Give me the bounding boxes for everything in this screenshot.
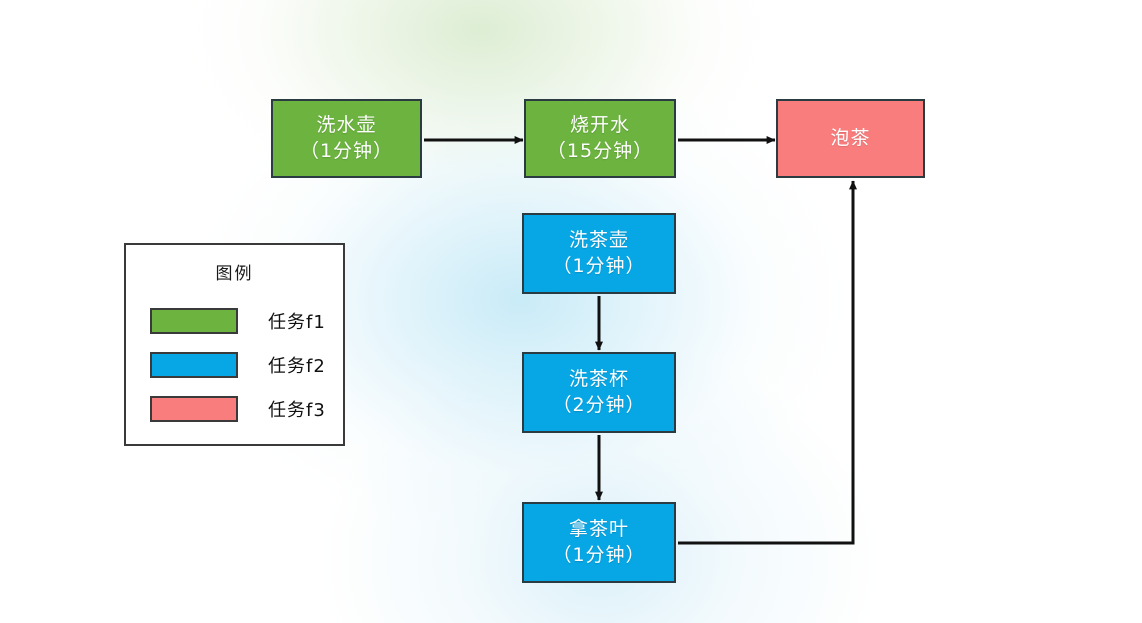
legend-item-task-f1[interactable]: 任务f1 [150,308,330,334]
legend-swatch-task-f1 [150,308,238,334]
flowchart-canvas: 洗水壶 （1分钟） 烧开水 （15分钟） 泡茶 洗茶壶 （1分钟） 洗茶杯 （2… [0,0,1142,623]
legend-label-task-f1: 任务f1 [268,308,326,334]
node-take-tealeaf[interactable]: 拿茶叶 （1分钟） [522,502,676,583]
legend-label-task-f3: 任务f3 [268,396,326,422]
node-title: 泡茶 [830,126,870,151]
node-title: 烧开水 [570,113,630,138]
legend-swatch-task-f2 [150,352,238,378]
legend-title: 图例 [126,259,343,284]
node-brew-tea[interactable]: 泡茶 [776,99,925,178]
node-title: 洗水壶 [316,113,376,138]
legend-label-task-f2: 任务f2 [268,352,326,378]
legend-item-task-f3[interactable]: 任务f3 [150,396,330,422]
node-title: 洗茶壶 [569,228,629,253]
node-duration: （15分钟） [547,139,653,164]
node-title: 洗茶杯 [569,367,629,392]
node-duration: （1分钟） [300,139,393,164]
node-wash-kettle[interactable]: 洗水壶 （1分钟） [271,99,422,178]
edge-take-tealeaf-to-brew-tea [678,181,853,543]
node-wash-teapot[interactable]: 洗茶壶 （1分钟） [522,213,676,294]
legend-swatch-task-f3 [150,396,238,422]
node-boil-water[interactable]: 烧开水 （15分钟） [524,99,676,178]
node-duration: （1分钟） [552,543,645,568]
legend-box: 图例 任务f1 任务f2 任务f3 [124,243,345,446]
legend-item-task-f2[interactable]: 任务f2 [150,352,330,378]
node-title: 拿茶叶 [569,517,629,542]
node-duration: （2分钟） [552,393,645,418]
node-wash-teacup[interactable]: 洗茶杯 （2分钟） [522,352,676,433]
node-duration: （1分钟） [552,254,645,279]
